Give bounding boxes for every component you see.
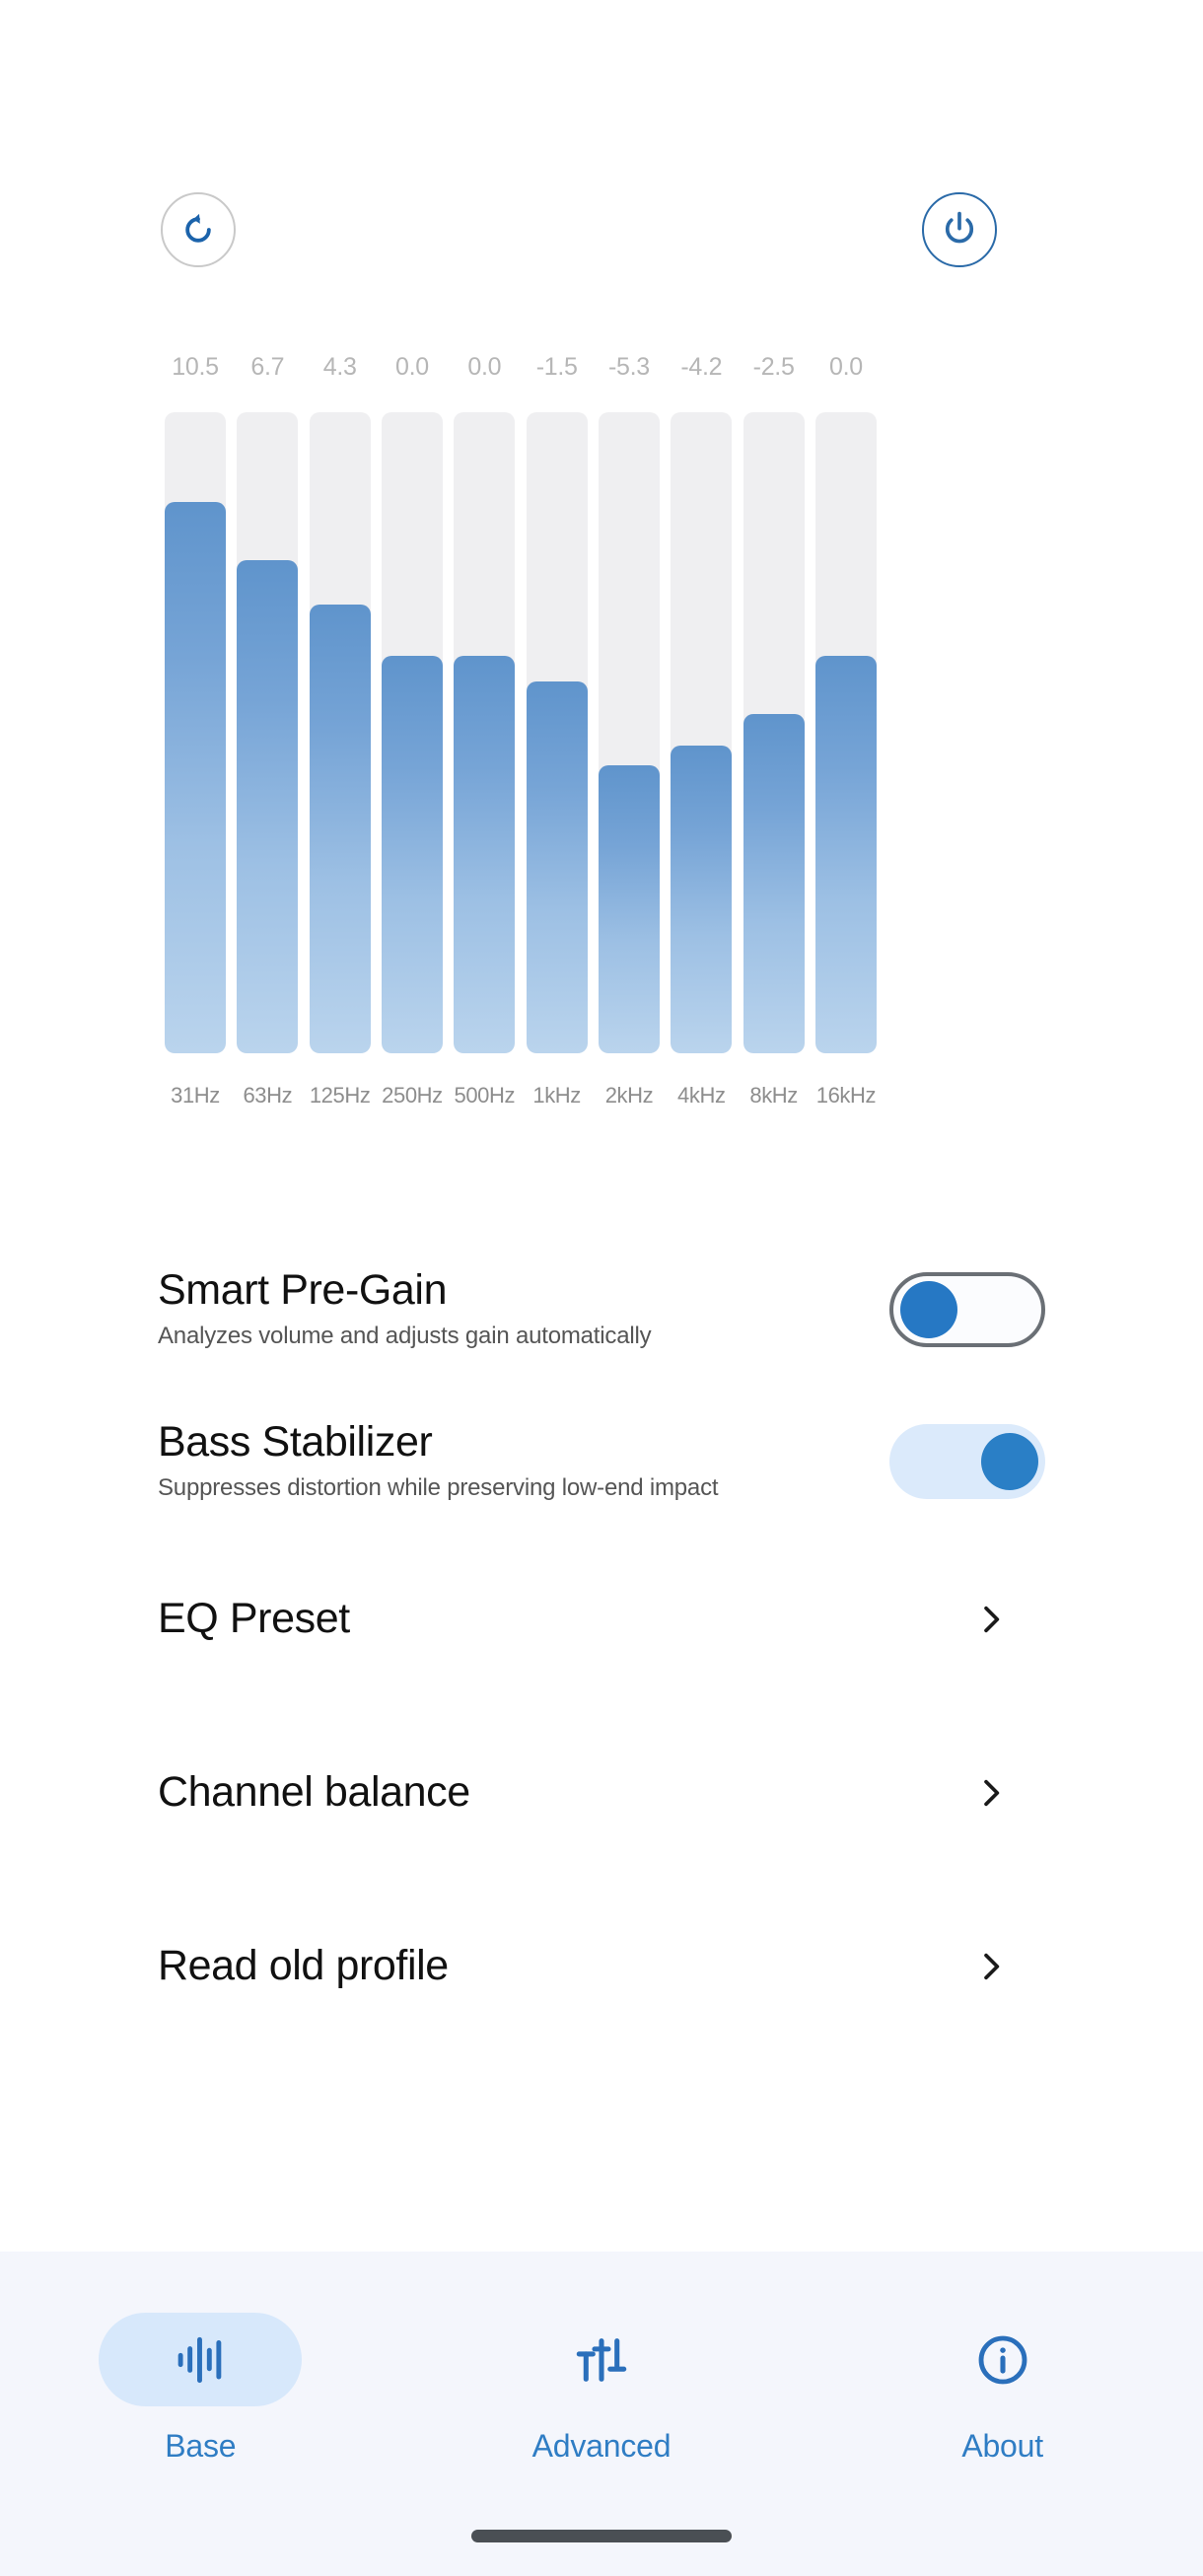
eq-value-cell: 6.7	[237, 355, 298, 383]
eq-value: -4.2	[680, 355, 722, 383]
toggle-knob	[900, 1281, 957, 1338]
eq-frequency-label: 8kHz	[743, 1083, 805, 1109]
eq-slider-fill	[310, 605, 371, 1053]
equalizer-frequency-labels: 31Hz 63Hz 125Hz 250Hz 500Hz 1kHz 2kHz 4k…	[165, 1083, 877, 1109]
eq-value-cell: 0.0	[815, 355, 877, 383]
eq-value: 0.0	[829, 355, 863, 383]
eq-value: -5.3	[608, 355, 650, 383]
eq-frequency-label: 16kHz	[815, 1083, 877, 1109]
home-indicator	[471, 2530, 732, 2542]
eq-slider-fill	[454, 656, 515, 1053]
chevron-right-icon	[974, 1950, 1008, 1983]
eq-value-cell: -4.2	[671, 355, 732, 383]
tab-advanced[interactable]: Advanced	[483, 2313, 720, 2465]
nav-row-read-old-profile[interactable]: Read old profile	[158, 1913, 1045, 2020]
eq-frequency-label: 125Hz	[310, 1083, 371, 1109]
setting-title: Smart Pre-Gain	[158, 1266, 651, 1314]
eq-slider-fill	[165, 502, 226, 1053]
chevron-right-icon	[974, 1776, 1008, 1810]
tab-icon-pill	[901, 2313, 1104, 2406]
nav-row-label: Channel balance	[158, 1768, 470, 1817]
eq-slider-fill	[527, 681, 588, 1053]
eq-slider-fill	[815, 656, 877, 1053]
eq-slider-fill	[671, 746, 732, 1053]
spacer	[158, 1673, 1045, 1740]
power-button[interactable]	[922, 192, 997, 267]
eq-value: 4.3	[323, 355, 357, 383]
eq-value: 0.0	[395, 355, 429, 383]
eq-slider-fill	[743, 714, 805, 1054]
eq-slider[interactable]	[237, 412, 298, 1053]
eq-frequency-label: 31Hz	[165, 1083, 226, 1109]
eq-slider[interactable]	[165, 412, 226, 1053]
setting-subtitle: Analyzes volume and adjusts gain automat…	[158, 1323, 651, 1351]
eq-slider[interactable]	[599, 412, 660, 1053]
eq-slider[interactable]	[454, 412, 515, 1053]
nav-row-channel-balance[interactable]: Channel balance	[158, 1740, 1045, 1846]
eq-value-cell: 10.5	[165, 355, 226, 383]
info-circle-icon	[974, 2331, 1031, 2389]
setting-row-smart-pre-gain[interactable]: Smart Pre-Gain Analyzes volume and adjus…	[158, 1264, 1045, 1351]
settings-list: Smart Pre-Gain Analyzes volume and adjus…	[158, 1264, 1045, 2020]
refresh-icon	[178, 210, 218, 250]
eq-value: 0.0	[467, 355, 501, 383]
smart-pre-gain-toggle[interactable]	[889, 1272, 1045, 1347]
spacer	[158, 1503, 1045, 1566]
tab-icon-pill	[500, 2313, 703, 2406]
eq-value: -1.5	[536, 355, 578, 383]
tab-base[interactable]: Base	[82, 2313, 318, 2465]
eq-value-cell: 0.0	[382, 355, 443, 383]
setting-title: Bass Stabilizer	[158, 1418, 718, 1466]
equalizer-value-labels: 10.5 6.7 4.3 0.0 0.0 -1.5 -5.3 -4.2 -2.5…	[165, 355, 877, 383]
eq-frequency-label: 4kHz	[671, 1083, 732, 1109]
eq-slider[interactable]	[815, 412, 877, 1053]
eq-value: 6.7	[250, 355, 284, 383]
tab-label: Advanced	[532, 2428, 672, 2465]
eq-value-cell: -1.5	[527, 355, 588, 383]
eq-slider[interactable]	[671, 412, 732, 1053]
tab-label: About	[961, 2428, 1043, 2465]
eq-frequency-label: 1kHz	[527, 1083, 588, 1109]
eq-slider[interactable]	[743, 412, 805, 1053]
bass-stabilizer-toggle[interactable]	[889, 1424, 1045, 1499]
eq-slider-fill	[382, 656, 443, 1053]
nav-row-label: EQ Preset	[158, 1595, 350, 1643]
eq-value: -2.5	[753, 355, 795, 383]
eq-value-cell: -2.5	[743, 355, 805, 383]
equalizer-sliders	[165, 412, 877, 1053]
equalizer-chart: 10.5 6.7 4.3 0.0 0.0 -1.5 -5.3 -4.2 -2.5…	[165, 355, 877, 1109]
setting-texts: Smart Pre-Gain Analyzes volume and adjus…	[158, 1264, 651, 1351]
eq-frequency-label: 500Hz	[454, 1083, 515, 1109]
setting-row-bass-stabilizer[interactable]: Bass Stabilizer Suppresses distortion wh…	[158, 1416, 1045, 1503]
setting-subtitle: Suppresses distortion while preserving l…	[158, 1474, 718, 1503]
eq-value: 10.5	[172, 355, 218, 383]
eq-frequency-label: 2kHz	[599, 1083, 660, 1109]
toggle-knob	[981, 1433, 1038, 1490]
setting-texts: Bass Stabilizer Suppresses distortion wh…	[158, 1416, 718, 1503]
eq-slider-fill	[599, 765, 660, 1054]
eq-slider[interactable]	[310, 412, 371, 1053]
spacer	[158, 1351, 1045, 1416]
equalizer-waveform-icon	[170, 2329, 231, 2391]
eq-value-cell: -5.3	[599, 355, 660, 383]
nav-row-label: Read old profile	[158, 1942, 449, 1990]
eq-slider[interactable]	[527, 412, 588, 1053]
eq-frequency-label: 250Hz	[382, 1083, 443, 1109]
tab-label: Base	[165, 2428, 236, 2465]
chevron-right-icon	[974, 1603, 1008, 1636]
top-controls	[161, 192, 997, 267]
tab-icon-pill	[99, 2313, 302, 2406]
nav-row-eq-preset[interactable]: EQ Preset	[158, 1566, 1045, 1673]
eq-value-cell: 4.3	[310, 355, 371, 383]
eq-value-cell: 0.0	[454, 355, 515, 383]
reset-button[interactable]	[161, 192, 236, 267]
tune-sliders-icon	[573, 2331, 630, 2389]
equalizer-app-screen: 10.5 6.7 4.3 0.0 0.0 -1.5 -5.3 -4.2 -2.5…	[0, 0, 1203, 2576]
power-icon	[939, 209, 980, 250]
eq-slider-fill	[237, 560, 298, 1054]
bottom-navigation-bar: Base Advanced	[0, 2252, 1203, 2576]
eq-frequency-label: 63Hz	[237, 1083, 298, 1109]
eq-slider[interactable]	[382, 412, 443, 1053]
spacer	[158, 1846, 1045, 1913]
tab-about[interactable]: About	[885, 2313, 1121, 2465]
